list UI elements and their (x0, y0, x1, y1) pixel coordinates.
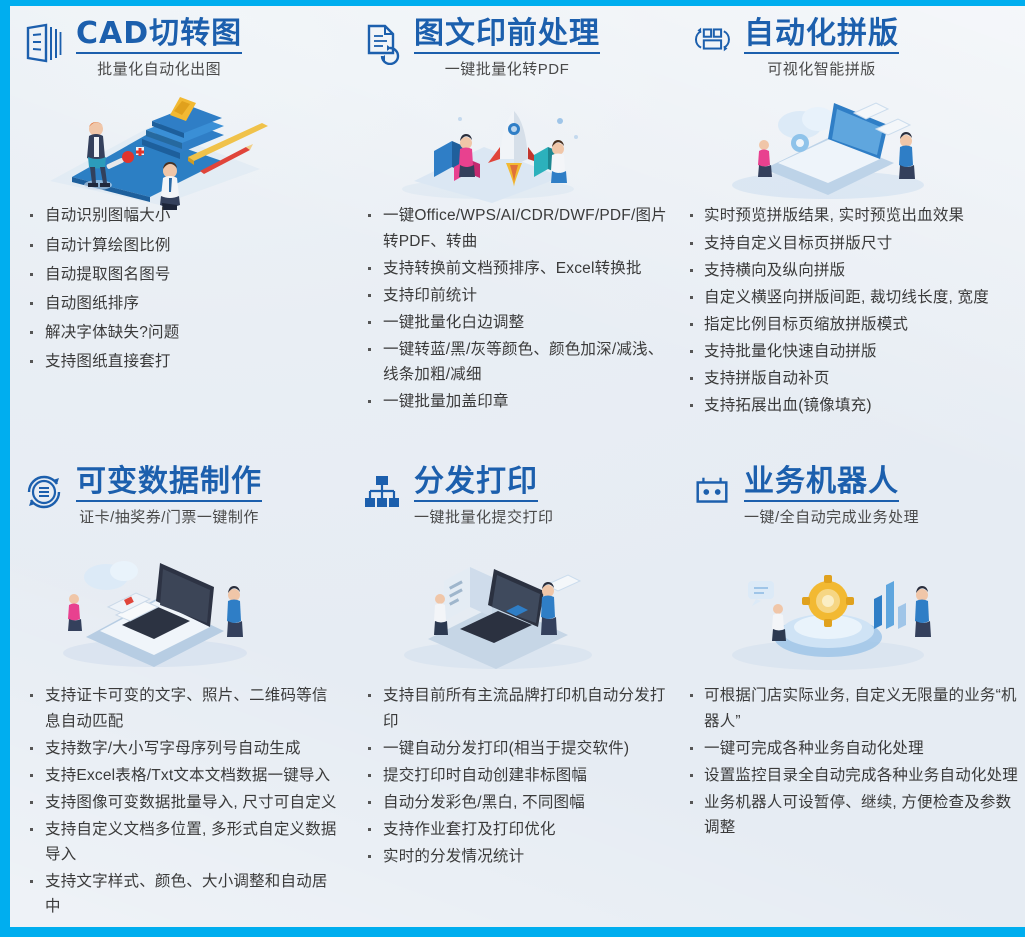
feature-item: 支持自定义目标页拼版尺寸 (690, 231, 1019, 256)
poster-canvas: CAD切转图 批量化自动化出图 (10, 6, 1025, 927)
card-subtitle: 批量化自动化出图 (76, 58, 242, 79)
auto-imposition-icon (692, 22, 732, 66)
feature-card-imposition[interactable]: 自动化拼版 可视化智能拼版 (678, 6, 1025, 458)
feature-list: 支持证卡可变的文字、照片、二维码等信息自动匹配 支持数字/大小写字母序列号自动生… (10, 683, 348, 919)
feature-item: 一键批量化白边调整 (366, 310, 672, 335)
poster-frame: CAD切转图 批量化自动化出图 (0, 0, 1025, 937)
rocket-launch-illustration (348, 85, 678, 203)
feature-item: 支持Excel表格/Txt文本文档数据一键导入 (28, 763, 342, 788)
feature-card-cad[interactable]: CAD切转图 批量化自动化出图 (10, 6, 348, 458)
feature-item: 支持拼版自动补页 (690, 366, 1019, 391)
feature-item: 一键批量加盖印章 (366, 389, 672, 414)
feature-item: 一键可完成各种业务自动化处理 (690, 736, 1019, 761)
business-robot-icon (692, 470, 732, 514)
document-convert-icon (362, 22, 402, 66)
card-title: 图文印前处理 (414, 18, 600, 54)
feature-item: 支持转换前文档预排序、Excel转换批 (366, 256, 672, 281)
feature-item: 自定义横竖向拼版间距, 裁切线长度, 宽度 (690, 285, 1019, 310)
feature-card-prepress[interactable]: 图文印前处理 一键批量化转PDF (348, 6, 678, 458)
feature-item: 支持图纸直接套打 (28, 349, 342, 374)
card-title: 业务机器人 (744, 466, 899, 502)
card-subtitle: 证卡/抽奖券/门票一键制作 (76, 506, 262, 527)
feature-item: 解决字体缺失?问题 (28, 320, 342, 345)
feature-list: 可根据门店实际业务, 自定义无限量的业务“机器人” 一键可完成各种业务自动化处理… (678, 683, 1025, 840)
card-titles: 图文印前处理 一键批量化转PDF (414, 18, 600, 79)
card-subtitle: 一键/全自动完成业务处理 (744, 506, 919, 527)
feature-item: 一键Office/WPS/AI/CDR/DWF/PDF/图片转PDF、转曲 (366, 203, 672, 253)
laptop-cloud-illustration (678, 85, 1025, 203)
feature-item: 一键转蓝/黑/灰等颜色、颜色加深/减浅、线条加粗/减细 (366, 337, 672, 387)
feature-item: 支持文字样式、颜色、大小调整和自动居中 (28, 869, 342, 919)
feature-item: 支持印前统计 (366, 283, 672, 308)
card-subtitle: 一键批量化转PDF (414, 58, 600, 79)
feature-item: 自动识别图幅大小 (28, 203, 342, 228)
feature-list: 支持目前所有主流品牌打印机自动分发打印 一键自动分发打印(相当于提交软件) 提交… (348, 683, 678, 869)
card-header: 业务机器人 一键/全自动完成业务处理 (678, 458, 1025, 527)
feature-item: 自动计算绘图比例 (28, 233, 342, 258)
feature-item: 支持目前所有主流品牌打印机自动分发打印 (366, 683, 672, 733)
card-header: CAD切转图 批量化自动化出图 (10, 6, 348, 79)
feature-list: 一键Office/WPS/AI/CDR/DWF/PDF/图片转PDF、转曲 支持… (348, 203, 678, 414)
card-titles: 业务机器人 一键/全自动完成业务处理 (744, 466, 919, 527)
feature-item: 支持批量化快速自动拼版 (690, 339, 1019, 364)
feature-grid: CAD切转图 批量化自动化出图 (10, 6, 1025, 927)
feature-list: 自动识别图幅大小 自动计算绘图比例 自动提取图名图号 自动图纸排序 解决字体缺失… (10, 203, 348, 374)
feature-item: 支持证卡可变的文字、照片、二维码等信息自动匹配 (28, 683, 342, 733)
feature-item: 自动图纸排序 (28, 291, 342, 316)
feature-item: 支持自定义文档多位置, 多形式自定义数据导入 (28, 817, 342, 867)
feature-item: 支持数字/大小写字母序列号自动生成 (28, 736, 342, 761)
card-titles: 自动化拼版 可视化智能拼版 (744, 18, 899, 79)
feature-item: 设置监控目录全自动完成各种业务自动化处理 (690, 763, 1019, 788)
card-titles: 分发打印 一键批量化提交打印 (414, 466, 554, 527)
feature-card-business-robot[interactable]: 业务机器人 一键/全自动完成业务处理 (678, 458, 1025, 927)
books-and-people-illustration (10, 85, 348, 203)
feature-item: 支持作业套打及打印优化 (366, 817, 672, 842)
feature-card-variable-data[interactable]: 可变数据制作 证卡/抽奖券/门票一键制作 (10, 458, 348, 927)
feature-item: 支持图像可变数据批量导入, 尺寸可自定义 (28, 790, 342, 815)
variable-data-icon (24, 470, 64, 514)
feature-list: 实时预览拼版结果, 实时预览出血效果 支持自定义目标页拼版尺寸 支持横向及纵向拼… (678, 203, 1025, 418)
feature-card-distribute-print[interactable]: 分发打印 一键批量化提交打印 (348, 458, 678, 927)
card-titles: CAD切转图 批量化自动化出图 (76, 18, 242, 79)
card-subtitle: 可视化智能拼版 (744, 58, 899, 79)
feature-item: 实时的分发情况统计 (366, 844, 672, 869)
feature-item: 指定比例目标页缩放拼版模式 (690, 312, 1019, 337)
card-header: 分发打印 一键批量化提交打印 (348, 458, 678, 527)
feature-item: 自动提取图名图号 (28, 262, 342, 287)
card-title: 自动化拼版 (744, 18, 899, 54)
card-title: CAD切转图 (76, 18, 242, 54)
laptop-card-print-illustration (10, 533, 348, 683)
card-header: 图文印前处理 一键批量化转PDF (348, 6, 678, 79)
card-header: 可变数据制作 证卡/抽奖券/门票一键制作 (10, 458, 348, 527)
card-title: 可变数据制作 (76, 466, 262, 502)
card-title: 分发打印 (414, 466, 538, 502)
feature-item: 提交打印时自动创建非标图幅 (366, 763, 672, 788)
card-subtitle: 一键批量化提交打印 (414, 506, 554, 527)
feature-item: 一键自动分发打印(相当于提交软件) (366, 736, 672, 761)
feature-item: 可根据门店实际业务, 自定义无限量的业务“机器人” (690, 683, 1019, 733)
feature-item: 支持横向及纵向拼版 (690, 258, 1019, 283)
robot-gear-illustration (678, 533, 1025, 683)
cad-drawing-icon (24, 22, 64, 66)
card-header: 自动化拼版 可视化智能拼版 (678, 6, 1025, 79)
printer-workstation-illustration (348, 533, 678, 683)
feature-item: 业务机器人可设暂停、继续, 方便检查及参数调整 (690, 790, 1019, 840)
feature-item: 自动分发彩色/黑白, 不同图幅 (366, 790, 672, 815)
distribute-print-icon (362, 470, 402, 514)
card-titles: 可变数据制作 证卡/抽奖券/门票一键制作 (76, 466, 262, 527)
feature-item: 支持拓展出血(镜像填充) (690, 393, 1019, 418)
feature-item: 实时预览拼版结果, 实时预览出血效果 (690, 203, 1019, 228)
